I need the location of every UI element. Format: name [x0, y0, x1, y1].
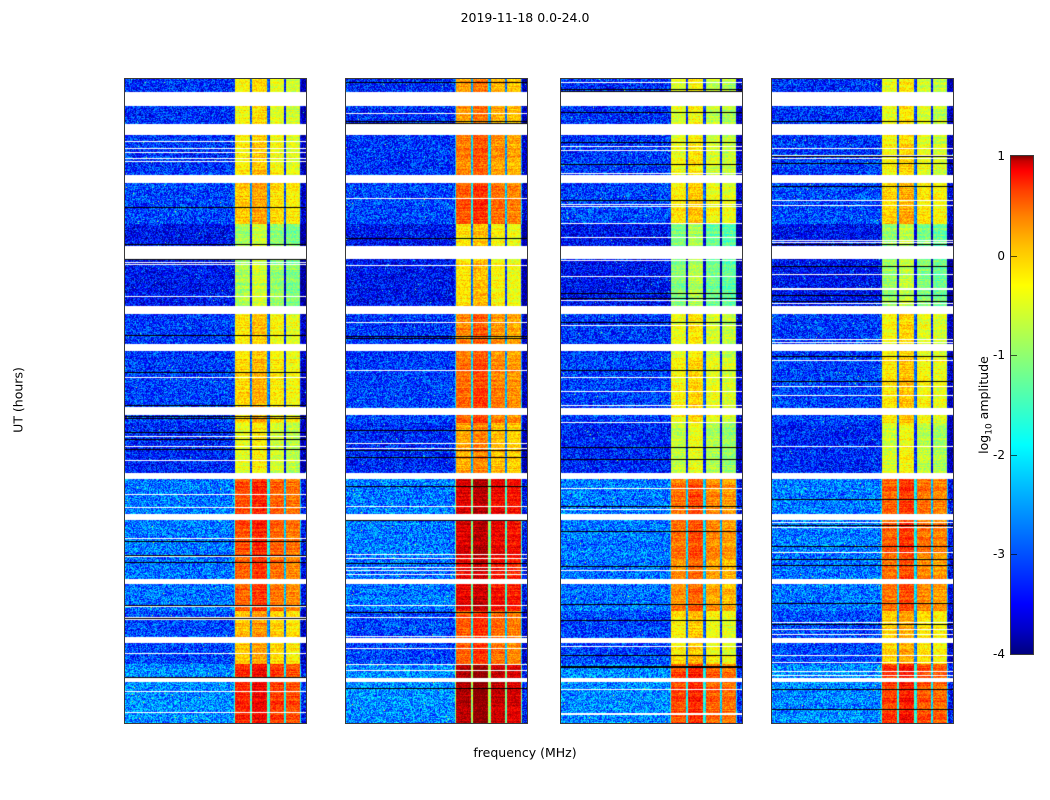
x-tick-mark	[174, 723, 175, 724]
spectrogram-canvas	[346, 79, 527, 723]
spectrogram-image-yx	[772, 79, 953, 723]
y-tick-mark	[124, 723, 125, 724]
x-tick-mark	[516, 723, 517, 724]
spectrogram-image-xx	[125, 79, 306, 723]
x-tick-mark	[435, 723, 436, 724]
y-axis-label: UT (hours)	[11, 367, 26, 433]
y-tick-mark	[124, 321, 125, 322]
colorbar-label-base: log	[976, 435, 991, 454]
colorbar-tick-label: -1	[993, 348, 1005, 362]
spectrogram-canvas	[772, 79, 953, 723]
y-tick-mark	[771, 589, 772, 590]
x-tick-mark	[569, 723, 570, 724]
spectrum-panel-yy[interactable]: YY, V3*V14=EA01*EA27 3203353503653800510…	[345, 78, 528, 724]
colorbar-tick-label: -4	[993, 647, 1005, 661]
y-tick-mark	[771, 455, 772, 456]
y-tick-mark	[345, 455, 346, 456]
y-tick-mark	[771, 723, 772, 724]
figure-suptitle: 2019-11-18 0.0-24.0	[0, 10, 1050, 25]
y-tick-mark	[771, 186, 772, 187]
x-tick-mark	[354, 723, 355, 724]
colorbar-tick-mark	[1011, 455, 1017, 456]
colorbar-label: log10 amplitude	[976, 356, 995, 454]
x-tick-mark	[610, 723, 611, 724]
x-tick-mark	[476, 723, 477, 724]
colorbar-tick-mark	[1011, 554, 1017, 555]
x-tick-mark	[255, 723, 256, 724]
y-tick-mark	[560, 186, 561, 187]
x-tick-mark	[650, 723, 651, 724]
colorbar-tick-label: 0	[997, 249, 1005, 263]
colorbar-label-tail: amplitude	[976, 356, 991, 423]
spectrogram-canvas	[561, 79, 742, 723]
colorbar-label-sub: 10	[984, 423, 994, 434]
y-tick-mark	[345, 723, 346, 724]
x-tick-mark	[861, 723, 862, 724]
x-tick-mark	[780, 723, 781, 724]
x-tick-mark	[295, 723, 296, 724]
y-tick-mark	[771, 321, 772, 322]
colorbar-tick-label: 1	[997, 149, 1005, 163]
y-tick-mark	[345, 186, 346, 187]
y-tick-mark	[560, 589, 561, 590]
colorbar-tick-label: -3	[993, 547, 1005, 561]
y-tick-mark	[560, 321, 561, 322]
y-tick-mark	[560, 455, 561, 456]
x-tick-mark	[214, 723, 215, 724]
y-tick-mark	[345, 321, 346, 322]
colorbar-tick-mark	[1011, 355, 1017, 356]
x-tick-mark	[133, 723, 134, 724]
colorbar-tick-mark	[1011, 256, 1017, 257]
y-tick-mark	[124, 186, 125, 187]
spectrogram-image-xy	[561, 79, 742, 723]
x-tick-mark	[902, 723, 903, 724]
x-tick-mark	[691, 723, 692, 724]
x-tick-mark	[395, 723, 396, 724]
y-tick-mark	[345, 589, 346, 590]
spectrum-panel-yx[interactable]: YX, V3*V14=EA01*EA27 3203353503653800510…	[771, 78, 954, 724]
spectrum-panel-xx[interactable]: XX, V3*V14=EA01*EA27 3203353503653800510…	[124, 78, 307, 724]
spectrum-panel-xy[interactable]: XY, V3*V14=EA01*EA27 3203353503653800510…	[560, 78, 743, 724]
y-tick-mark	[124, 589, 125, 590]
x-tick-mark	[942, 723, 943, 724]
y-tick-mark	[124, 455, 125, 456]
colorbar-tick-label: -2	[993, 448, 1005, 462]
x-tick-mark	[731, 723, 732, 724]
dynamic-spectrum-figure: 2019-11-18 0.0-24.0 UT (hours) frequency…	[0, 0, 1050, 800]
y-tick-mark	[560, 723, 561, 724]
x-axis-label: frequency (MHz)	[0, 745, 1050, 760]
colorbar[interactable]: 10-1-2-3-4	[1010, 155, 1034, 655]
spectrogram-canvas	[125, 79, 306, 723]
x-tick-mark	[821, 723, 822, 724]
spectrogram-image-yy	[346, 79, 527, 723]
